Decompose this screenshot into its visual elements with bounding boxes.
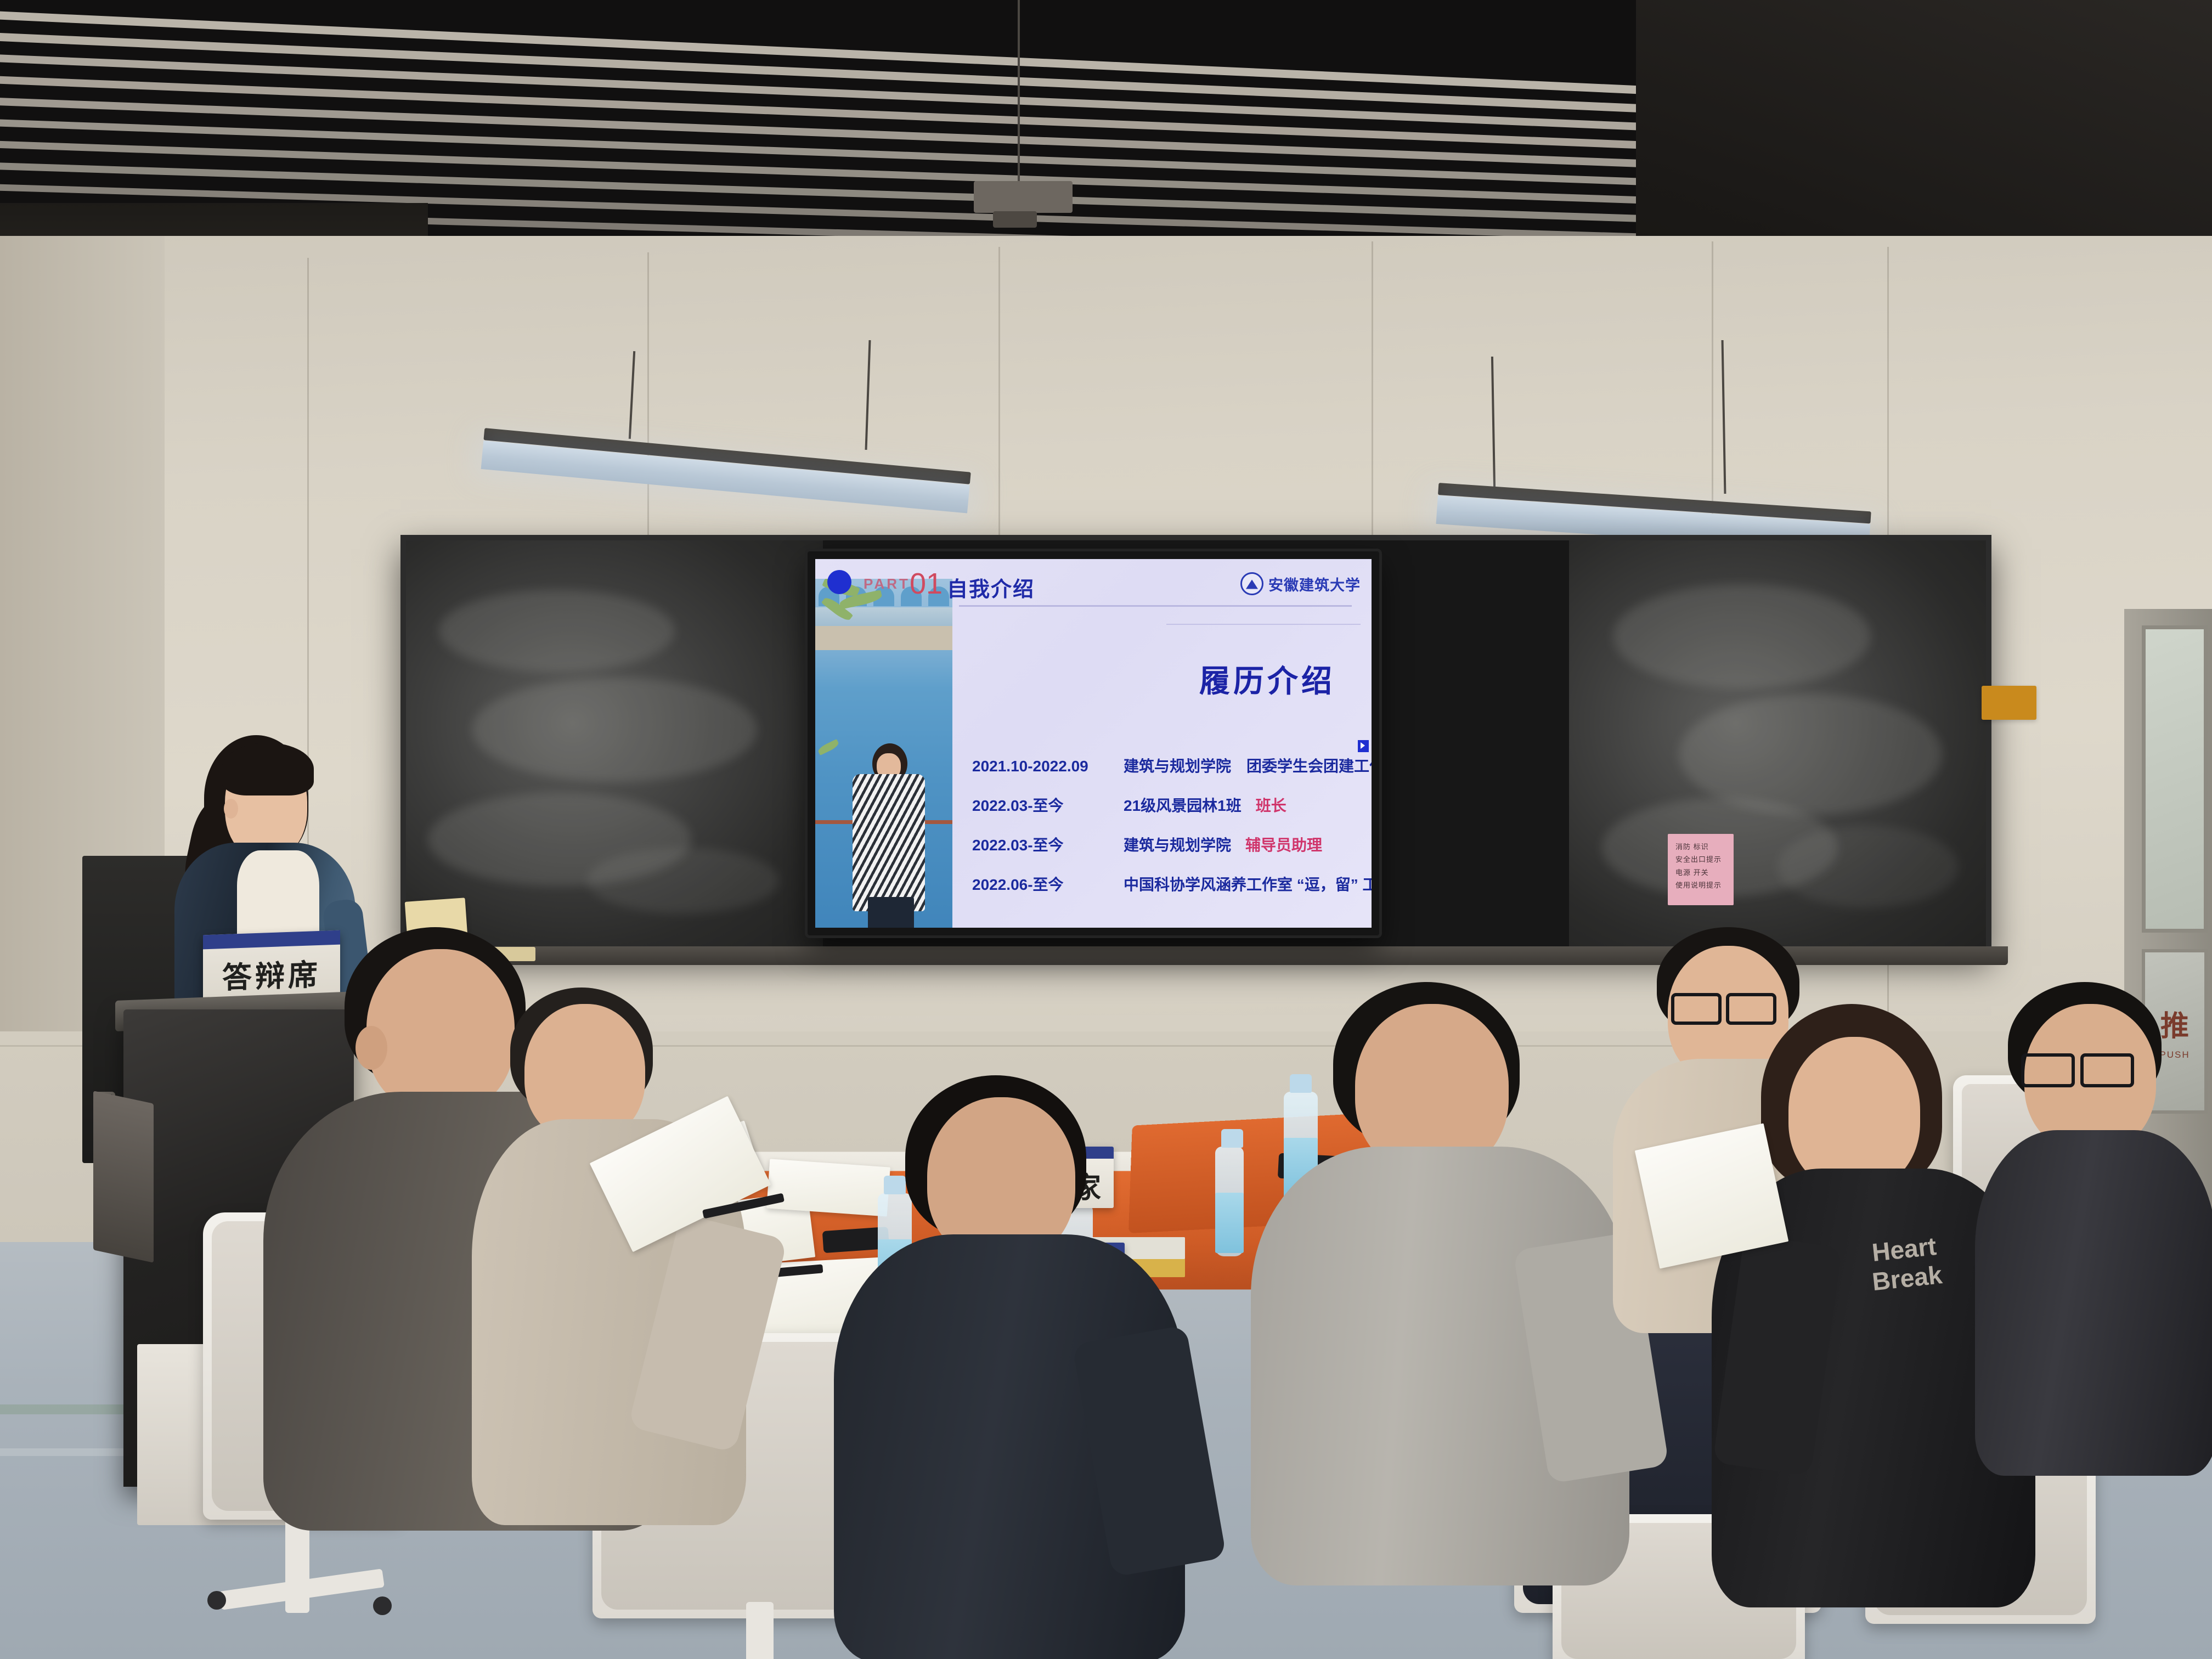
glasses-icon	[2080, 1053, 2134, 1087]
chair-column	[746, 1602, 774, 1659]
yellow-equipment-sticker	[1982, 686, 2036, 720]
classroom-scene: PART 01 自我介绍 安徽建筑大学 履历介绍 2021.10-2022.09…	[0, 0, 2212, 1659]
audience-member-3	[834, 1075, 1196, 1659]
podium-side-panel	[93, 1091, 154, 1262]
pink-notice-line: 安全出口提示	[1675, 853, 1726, 866]
door-glass-panel	[2142, 625, 2208, 933]
wall-seam	[1372, 241, 1373, 538]
chair-wheel	[373, 1596, 392, 1615]
resume-date: 2022.06-至今	[972, 873, 1109, 895]
chair-wheel	[207, 1591, 226, 1610]
wall-seam	[998, 247, 1000, 543]
slide-part-kicker: PART	[864, 575, 910, 592]
resume-date: 2021.10-2022.09	[972, 758, 1109, 775]
glasses-icon	[2021, 1053, 2075, 1087]
resume-row: 2022.03-至今 建筑与规划学院 辅导员助理	[972, 833, 1367, 855]
slide-part-title: 自我介绍	[947, 572, 1035, 602]
slide-photo	[815, 579, 952, 928]
resume-org: 建筑与规划学院	[1124, 833, 1231, 855]
audience-member-2	[472, 988, 757, 1525]
resume-role: 班长	[1256, 794, 1286, 816]
slide-main-title: 履历介绍	[1199, 657, 1335, 701]
university-logo-text: 安徽建筑大学	[1268, 573, 1361, 595]
resume-row: 2022.03-至今 21级风景园林1班 班长	[972, 794, 1367, 816]
projector-body	[993, 211, 1037, 228]
header-divider	[959, 605, 1352, 607]
resume-org: 中国科协学风涵养工作室 “逗，留” 工作室	[1124, 873, 1372, 895]
resume-list: 2021.10-2022.09 建筑与规划学院 团委学生会团建工作部 工作人员 …	[972, 754, 1367, 912]
resume-date: 2022.03-至今	[972, 794, 1109, 816]
media-play-cursor-icon[interactable]	[1358, 740, 1369, 752]
pink-notice-line: 消防 标识	[1675, 840, 1726, 853]
header-divider-secondary	[1166, 624, 1361, 625]
bullet-dot-icon	[827, 570, 851, 594]
university-logo: 安徽建筑大学	[1240, 572, 1361, 595]
pink-notice-line: 电源 开关	[1675, 866, 1726, 879]
blackboard-right-panel	[1569, 540, 1986, 946]
resume-org: 建筑与规划学院 团委学生会团建工作部	[1124, 754, 1372, 776]
pink-notice: 消防 标识 安全出口提示 电源 开关 使用说明提示	[1668, 834, 1734, 905]
resume-row: 2022.06-至今 中国科协学风涵养工作室 “逗，留” 工作室 负责人	[972, 873, 1367, 895]
resume-row: 2021.10-2022.09 建筑与规划学院 团委学生会团建工作部 工作人员	[972, 754, 1367, 776]
pink-notice-line: 使用说明提示	[1675, 879, 1726, 891]
resume-role: 辅导员助理	[1245, 833, 1322, 855]
water-bottle[interactable]	[1215, 1147, 1244, 1256]
audience-member-7	[1975, 982, 2212, 1476]
blackboard-left-panel	[406, 540, 823, 946]
university-seal-icon	[1240, 572, 1263, 595]
resume-date: 2022.03-至今	[972, 833, 1109, 855]
resume-org: 21级风景园林1班	[1124, 794, 1242, 816]
projector-rod	[1018, 0, 1020, 181]
wall-seam	[647, 252, 649, 560]
presentation-display: PART 01 自我介绍 安徽建筑大学 履历介绍 2021.10-2022.09…	[808, 551, 1379, 935]
audience-member-4	[1251, 982, 1635, 1585]
projector-mount	[974, 181, 1073, 213]
slide-canvas: PART 01 自我介绍 安徽建筑大学 履历介绍 2021.10-2022.09…	[815, 559, 1372, 928]
slide-part-number: 01	[910, 567, 943, 601]
slide-header: PART 01 自我介绍 安徽建筑大学	[815, 559, 1372, 602]
